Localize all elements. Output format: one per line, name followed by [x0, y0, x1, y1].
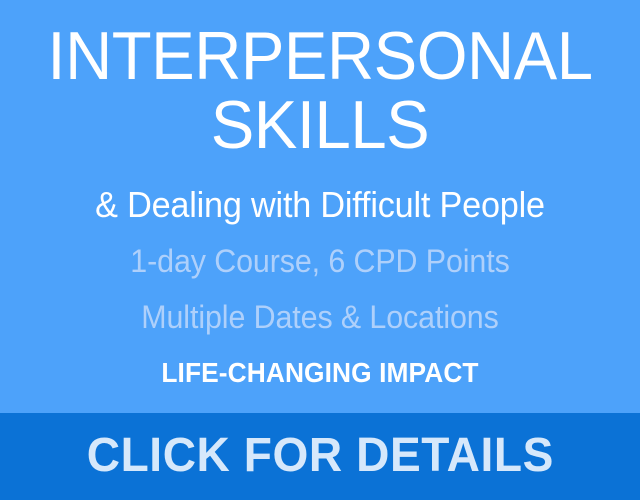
banner-subtitle: & Dealing with Difficult People — [16, 187, 624, 223]
headline-line-1: INTERPERSONAL — [20, 22, 619, 91]
course-duration-credits: 1-day Course, 6 CPD Points — [16, 245, 624, 277]
click-for-details-button[interactable]: CLICK FOR DETAILS — [0, 413, 640, 500]
banner-headline: INTERPERSONAL SKILLS — [13, 22, 627, 161]
headline-line-2: SKILLS — [20, 91, 619, 160]
cta-button-label: CLICK FOR DETAILS — [86, 432, 553, 482]
course-dates-locations: Multiple Dates & Locations — [16, 301, 624, 333]
banner-content-area: INTERPERSONAL SKILLS & Dealing with Diff… — [0, 0, 640, 413]
impact-tagline: LIFE-CHANGING IMPACT — [19, 359, 621, 387]
advertisement-banner[interactable]: INTERPERSONAL SKILLS & Dealing with Diff… — [0, 0, 640, 500]
